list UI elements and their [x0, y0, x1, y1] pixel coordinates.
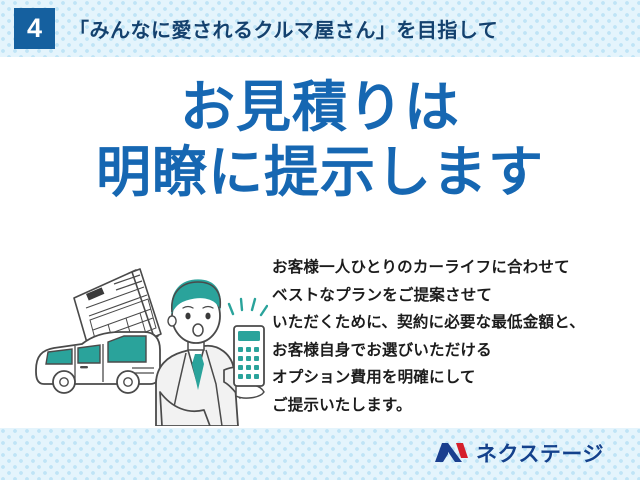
header-title: 「みんなに愛されるクルマ屋さん」を目指して [69, 14, 498, 43]
illustration [28, 258, 268, 426]
body-line: お客様一人ひとりのカーライフに合わせて [272, 254, 632, 282]
headline-line-1: お見積りは [0, 78, 640, 137]
sparkle-icon [229, 299, 267, 315]
section-number-badge: 4 [14, 8, 55, 49]
nextage-n-logo-icon [435, 440, 469, 469]
promo-banner: 4 「みんなに愛されるクルマ屋さん」を目指して お見積りは 明瞭に提示します お… [0, 0, 640, 480]
body-line: いただくために、契約に必要な最低金額と、 [272, 309, 632, 337]
headline-line-2: 明瞭に提示します [0, 143, 640, 202]
body-line: ご提示いたします。 [272, 392, 632, 420]
brand-name: ネクステージ [476, 444, 604, 465]
van-icon [36, 332, 162, 393]
footer: ネクステージ [0, 428, 640, 480]
body-line: オプション費用を明確にして [272, 364, 632, 392]
body-line: お客様自身でお選びいただける [272, 337, 632, 365]
body-line: ベストなプランをご提案させて [272, 282, 632, 310]
headline: お見積りは 明瞭に提示します [0, 78, 640, 203]
body-copy: お客様一人ひとりのカーライフに合わせて ベストなプランをご提案させて いただくた… [272, 254, 632, 419]
header: 4 「みんなに愛されるクルマ屋さん」を目指して [0, 0, 640, 57]
calculator-icon [234, 326, 264, 386]
